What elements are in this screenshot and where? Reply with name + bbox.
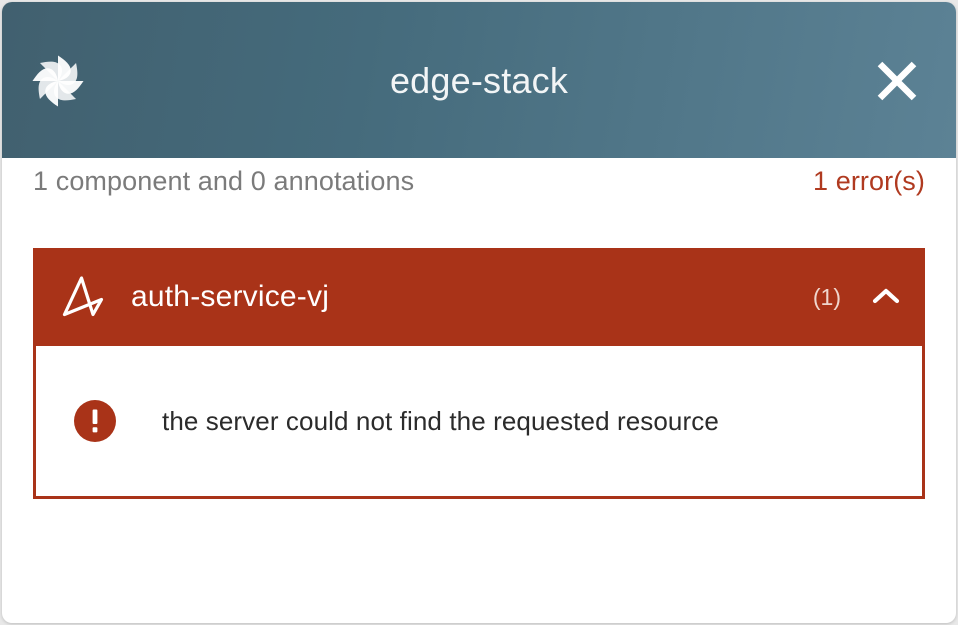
error-message: the server could not find the requested … bbox=[162, 406, 719, 437]
error-group-name: auth-service-vj bbox=[131, 280, 813, 314]
close-button[interactable] bbox=[868, 52, 926, 110]
page-title: edge-stack bbox=[2, 52, 956, 110]
error-group: auth-service-vj (1) the ser bbox=[33, 248, 925, 499]
chevron-up-icon[interactable] bbox=[869, 280, 903, 314]
close-x-icon bbox=[874, 58, 920, 104]
summary-row: 1 component and 0 annotations 1 error(s) bbox=[33, 158, 925, 248]
error-group-count: (1) bbox=[813, 284, 841, 311]
dialog-header: edge-stack bbox=[2, 2, 956, 158]
error-list: the server could not find the requested … bbox=[36, 346, 922, 496]
component-summary-label: 1 component and 0 annotations bbox=[33, 166, 414, 197]
error-group-header[interactable]: auth-service-vj (1) bbox=[33, 248, 925, 346]
error-exclamation-icon bbox=[74, 400, 116, 442]
dialog-body: 1 component and 0 annotations 1 error(s)… bbox=[2, 158, 956, 499]
error-count-label: 1 error(s) bbox=[813, 166, 925, 197]
list-item: the server could not find the requested … bbox=[74, 400, 719, 442]
dialog-card: edge-stack 1 component and 0 annotations… bbox=[2, 2, 956, 623]
ambassador-a-icon bbox=[59, 272, 109, 322]
